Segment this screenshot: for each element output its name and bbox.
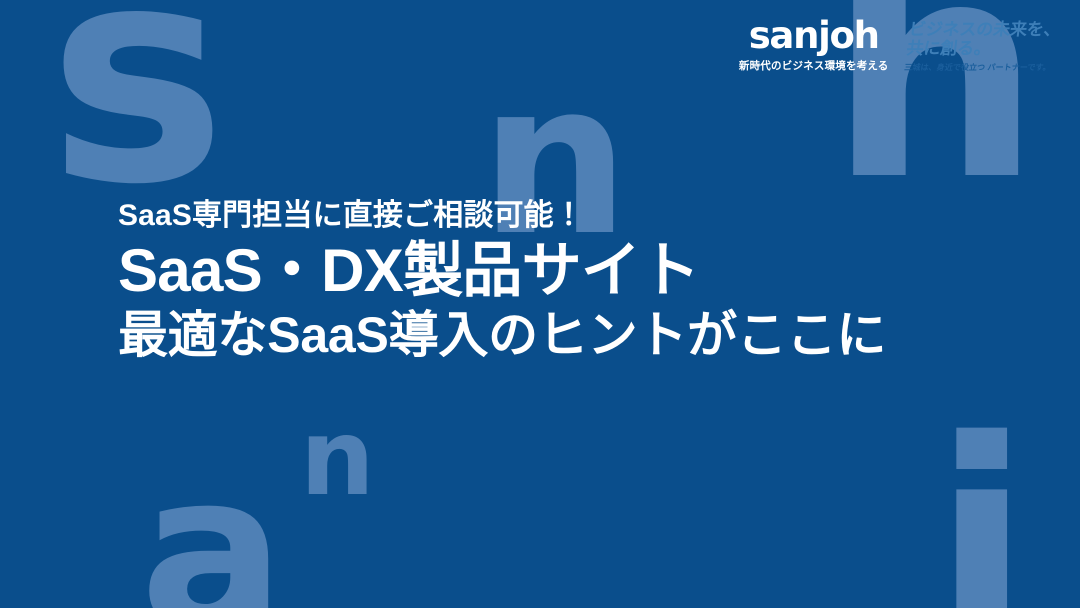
brand-subtitle: 新時代のビジネス環境を考える	[739, 58, 889, 73]
brand-logo[interactable]: sanjoh 新時代のビジネス環境を考える	[739, 18, 889, 73]
hero-banner: s h n n a j sanjoh 新時代のビジネス環境を考える ビジネスの未…	[0, 0, 1080, 608]
watermark-letter-j: j	[932, 404, 1026, 608]
hero-eyebrow: SaaS専門担当に直接ご相談可能！	[118, 198, 886, 233]
hero-subtitle: 最適なSaaS導入のヒントがここに	[118, 306, 886, 364]
tagline-line-2: 共に創る。	[905, 39, 1059, 58]
watermark-letter-n-small: n	[300, 406, 373, 511]
watermark-letter-s: s	[48, 0, 221, 226]
hero-copy: SaaS専門担当に直接ご相談可能！ SaaS・DX製品サイト 最適なSaaS導入…	[118, 198, 886, 364]
brand-lockup[interactable]: sanjoh 新時代のビジネス環境を考える ビジネスの未来を、 共に創る。 三城…	[739, 18, 1058, 74]
brand-tagline: ビジネスの未来を、 共に創る。 三城は、身近で役立つ パートナーです。	[903, 18, 1061, 74]
page-title: SaaS・DX製品サイト	[118, 239, 886, 304]
tagline-note: 三城は、身近で役立つ パートナーです。	[903, 63, 1056, 74]
brand-wordmark: sanjoh	[749, 18, 879, 54]
tagline-line-1: ビジネスの未来を、	[907, 20, 1061, 39]
watermark-letter-a: a	[140, 444, 281, 608]
